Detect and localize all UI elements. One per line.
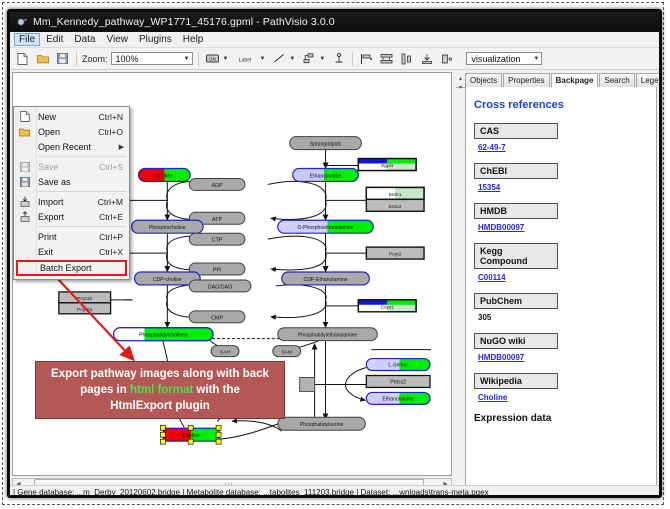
xref-header-nugo: NuGO wiki (474, 333, 558, 349)
menu-item-save-shortcut: Ctrl+S (99, 162, 123, 172)
node-cmp[interactable]: CMP (189, 311, 245, 323)
node-label: CDP-Ethanolamine (303, 277, 347, 283)
chevron-down-icon-2: ▼ (533, 56, 539, 62)
node-ethanolamine-top[interactable]: Ethanolamine (293, 169, 359, 182)
node-label: Pcyt2 (389, 252, 402, 258)
xref-header-wikipedia: Wikipedia (474, 373, 558, 389)
node-phosphatidylethanolamine[interactable]: Phosphatidylethanolamine (278, 328, 378, 341)
node-ethanolamine-bottom[interactable]: Ethanolamine (366, 392, 430, 404)
xref-value-nugo[interactable]: HMDB00097 (478, 353, 648, 362)
node-label: PPi (213, 268, 221, 274)
node-phosphatidylcholines[interactable]: Phosphatidylcholines (114, 328, 214, 341)
menu-item-open-label: Open (38, 127, 60, 137)
label-dropdown-icon[interactable]: ▼ (259, 56, 265, 62)
node-label: Choline (156, 173, 174, 179)
node-label: Etnk2 (389, 204, 402, 210)
gene-pcyt1b[interactable]: Pcyt1b (59, 292, 111, 303)
chebi-link[interactable]: 15354 (478, 183, 500, 192)
align-middle-icon[interactable] (398, 50, 415, 67)
callout-line-1: Export pathway images along with back (51, 366, 269, 382)
right-dock: ▴ ▾ Objects Properties Backpage Search L… (456, 72, 657, 490)
menu-item-batch-export[interactable]: Batch Export (16, 260, 127, 276)
node-choline-top[interactable]: Choline (138, 169, 190, 182)
svg-text:GN: GN (209, 56, 216, 61)
menu-item-exit-shortcut: Ctrl+X (99, 247, 123, 257)
line-dropdown-icon[interactable]: ▼ (289, 56, 295, 62)
node-label: Ethanolamine (310, 173, 342, 179)
backpage-panel[interactable]: Cross references CAS 62-49-7 ChEBI 15354… (465, 87, 657, 490)
xref-value-chebi[interactable]: 15354 (478, 183, 648, 192)
menu-item-save-as-label: Save as (38, 177, 71, 187)
annotation-callout: Export pathway images along with back pa… (35, 361, 285, 419)
menu-item-import-shortcut: Ctrl+M (98, 197, 123, 207)
node-label: DAG/DAG (208, 284, 233, 290)
menu-item-export-label: Export (38, 212, 64, 222)
node-label: Pcyt1b (77, 296, 92, 302)
node-label: CTP (212, 238, 223, 244)
new-file-icon (18, 111, 31, 122)
menu-item-exit[interactable]: Exit Ctrl+X (14, 244, 129, 259)
menu-item-import-label: Import (38, 197, 64, 207)
node-label: Sgpl1 (381, 163, 394, 169)
kegg-link[interactable]: C00114 (478, 273, 506, 282)
node-label: Ethanolamine (382, 397, 414, 403)
stack-icon[interactable] (418, 50, 435, 67)
gene-pcyt1a[interactable]: Pcyt1a (59, 303, 111, 314)
menu-item-export[interactable]: Export Ctrl+E (14, 209, 129, 224)
menu-file[interactable]: File (14, 33, 40, 46)
menu-item-new[interactable]: New Ctrl+N (14, 109, 129, 124)
align-left-icon[interactable] (358, 50, 375, 67)
menu-item-save-as[interactable]: Save as (14, 174, 129, 189)
visualization-combo[interactable]: visualization ▼ (466, 52, 542, 65)
label-icon[interactable]: Label (233, 50, 257, 67)
save-as-icon (18, 176, 31, 187)
menu-help[interactable]: Help (178, 33, 209, 46)
folder-icon (18, 126, 31, 137)
xref-value-kegg[interactable]: C00114 (478, 273, 648, 282)
pathvisio-window: Mm_Kennedy_pathway_WP1771_45176.gpml - P… (9, 11, 660, 496)
gene-etnk2[interactable]: Etnk2 (366, 199, 424, 211)
menu-item-new-label: New (38, 112, 56, 122)
node-label: Pcyt1a (77, 307, 92, 313)
xref-value-hmdb[interactable]: HMDB00097 (478, 223, 648, 232)
menu-item-save-label: Save (38, 162, 59, 172)
node-cdp-ethanolamine[interactable]: CDP-Ethanolamine (282, 272, 370, 285)
menu-item-print[interactable]: Print Ctrl+P (14, 229, 129, 244)
menu-plugins[interactable]: Plugins (134, 33, 177, 46)
nugo-link[interactable]: HMDB00097 (478, 353, 524, 362)
xref-value-cas[interactable]: 62-49-7 (478, 143, 648, 152)
export-icon (18, 211, 31, 222)
menu-item-export-shortcut: Ctrl+E (99, 212, 123, 222)
app-icon (16, 16, 28, 28)
callout-line-2b: with the (193, 384, 240, 396)
toolbar-separator-3 (352, 52, 353, 66)
cas-link[interactable]: 62-49-7 (478, 143, 506, 152)
menu-view[interactable]: View (101, 33, 133, 46)
menu-item-import[interactable]: Import Ctrl+M (14, 194, 129, 209)
toolbar-separator (76, 52, 77, 66)
wikipedia-link[interactable]: Choline (478, 393, 507, 402)
align-distribute-icon[interactable] (378, 50, 395, 67)
xref-header-kegg: Kegg Compound (474, 243, 558, 269)
node-label: L-Serine (388, 363, 408, 369)
menu-item-print-shortcut: Ctrl+P (99, 232, 123, 242)
gene-etnk1[interactable]: Etnk1 (366, 187, 424, 199)
node-phosphatidylserine[interactable]: Phosphatidylserine (278, 417, 366, 430)
node-label: Etnk1 (389, 192, 402, 198)
node-label: Phosphatidylserine (300, 422, 344, 428)
xref-header-cas: CAS (474, 123, 558, 139)
node-label: Cept1 (381, 304, 394, 310)
node-label: CDP-choline (153, 277, 182, 283)
gene-pcyt2[interactable]: Pcyt2 (366, 247, 424, 259)
toolbar-separator-2 (198, 52, 199, 66)
menu-item-new-shortcut: Ctrl+N (99, 112, 123, 122)
node-phosphocholine[interactable]: Phosphocholine (132, 220, 204, 233)
menu-item-open-shortcut: Ctrl+O (98, 127, 123, 137)
toolbar-new-icon[interactable] (14, 50, 31, 67)
menu-item-print-label: Print (38, 232, 57, 242)
xref-value-pubchem: 305 (478, 313, 648, 322)
node-label: CMP (211, 315, 223, 321)
xref-header-hmdb: HMDB (474, 203, 558, 219)
anchor-box (300, 377, 315, 391)
node-label: ATP (212, 217, 222, 223)
hmdb-link[interactable]: HMDB00097 (478, 223, 524, 232)
toolbar-save-icon[interactable] (54, 50, 71, 67)
callout-line-2: pages in html format with the (80, 382, 240, 398)
dock-tab-bar[interactable]: Objects Properties Backpage Search Legen… (456, 72, 657, 88)
tab-properties[interactable]: Properties (503, 73, 549, 87)
node-l-serine[interactable]: L-Serine (366, 359, 430, 371)
node-label: SAH (220, 349, 231, 355)
toolbar: Zoom: 100% ▼ GN ▼ Label ▼ ▼ ▼ (10, 48, 659, 70)
xref-value-wikipedia[interactable]: Choline (478, 393, 648, 402)
node-adp[interactable]: ADP (189, 178, 245, 190)
node-choline-bottom[interactable]: Choline (160, 425, 221, 444)
callout-line-2a: pages in (80, 384, 130, 396)
chevron-right-icon: ▶ (119, 143, 124, 151)
import-icon (18, 196, 31, 207)
gene-sgpl1[interactable]: Sgpl1 (358, 159, 416, 171)
node-label: ADP (212, 183, 223, 189)
node-label: O-Phosphoethanolamine (298, 225, 354, 231)
menu-edit[interactable]: Edit (41, 33, 68, 46)
screenshot-root: Mm_Kennedy_pathway_WP1771_45176.gpml - P… (0, 0, 670, 509)
node-sam[interactable]: SAM (273, 346, 301, 357)
main-area: ▸ (10, 70, 659, 496)
node-label: Phosphocholine (149, 225, 186, 231)
tab-legend[interactable]: Legend (636, 73, 660, 87)
node-label: Ptdss2 (390, 380, 406, 386)
node-sah[interactable]: SAH (211, 346, 239, 357)
menu-item-exit-label: Exit (38, 247, 53, 257)
chevron-down-icon: ▼ (184, 56, 190, 62)
cross-references-title: Cross references (474, 99, 648, 111)
xref-header-pubchem: PubChem (474, 293, 558, 309)
menu-item-open-recent-label: Open Recent (38, 142, 91, 152)
zoom-value: 100% (116, 54, 139, 64)
node-label: Choline (182, 433, 200, 439)
zoom-label: Zoom: (82, 54, 108, 64)
node-label: Sphingolipids (310, 142, 342, 148)
node-dag[interactable]: DAG/DAG (189, 280, 251, 292)
zoom-combo[interactable]: 100% ▼ (111, 52, 193, 65)
interaction-dropdown-icon[interactable]: ▼ (319, 56, 325, 62)
save-icon (18, 161, 31, 172)
callout-line-3: HtmlExport plugin (110, 398, 210, 414)
status-bar: | Gene database: ...m_Derby_20120602.bri… (10, 485, 659, 496)
gene-ptdss2[interactable]: Ptdss2 (366, 375, 430, 387)
svg-text:Label: Label (239, 57, 252, 63)
size-icon[interactable] (438, 50, 455, 67)
tab-backpage[interactable]: Backpage (551, 73, 599, 88)
file-menu-popup[interactable]: New Ctrl+N Open Ctrl+O Open Recent ▶ (13, 106, 130, 280)
menu-separator-3 (38, 226, 126, 227)
title-bar: Mm_Kennedy_pathway_WP1771_45176.gpml - P… (10, 12, 659, 32)
gene-cept1[interactable]: Cept1 (358, 300, 416, 312)
menu-item-save[interactable]: Save Ctrl+S (14, 159, 129, 174)
menu-separator-2 (38, 191, 126, 192)
menu-bar[interactable]: File Edit Data View Plugins Help (10, 32, 659, 48)
datanode-icon[interactable]: GN (204, 50, 221, 67)
node-label: Phosphatidylethanolamine (298, 333, 358, 339)
toolbar-open-icon[interactable] (34, 50, 51, 67)
menu-item-open[interactable]: Open Ctrl+O (14, 124, 129, 139)
node-o-phosphoethanolamine[interactable]: O-Phosphoethanolamine (278, 220, 374, 233)
interaction-icon[interactable] (300, 50, 317, 67)
node-ctp[interactable]: CTP (189, 233, 245, 245)
menu-data[interactable]: Data (69, 33, 100, 46)
status-text: | Gene database: ...m_Derby_20120602.bri… (13, 488, 489, 496)
menu-item-open-recent[interactable]: Open Recent ▶ (14, 139, 129, 154)
dock-pin-icon[interactable]: ▴ (459, 75, 462, 82)
xref-header-chebi: ChEBI (474, 163, 558, 179)
expression-data-title: Expression data (474, 413, 648, 424)
dock-left-strip[interactable]: ▴ ▾ (456, 72, 465, 493)
anchor-icon[interactable] (330, 50, 347, 67)
node-label: Phosphatidylcholines (139, 333, 188, 339)
datanode-dropdown-icon[interactable]: ▼ (223, 56, 229, 62)
tab-objects[interactable]: Objects (465, 73, 502, 87)
visualization-value: visualization (471, 54, 520, 64)
window-title: Mm_Kennedy_pathway_WP1771_45176.gpml - P… (33, 16, 335, 28)
dock-menu-icon[interactable]: ▾ (459, 84, 462, 91)
callout-highlight: html format (130, 384, 193, 396)
line-icon[interactable] (270, 50, 287, 67)
menu-separator-1 (38, 156, 126, 157)
node-sphingolipids[interactable]: Sphingolipids (290, 137, 362, 150)
menu-item-batch-export-label: Batch Export (40, 263, 92, 273)
tab-search[interactable]: Search (599, 73, 634, 87)
node-label: SAM (281, 349, 292, 355)
